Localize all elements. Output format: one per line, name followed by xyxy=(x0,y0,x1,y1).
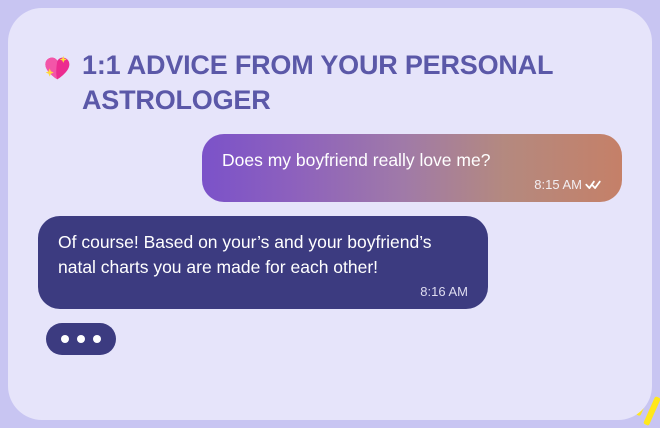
sparkling-heart-icon xyxy=(42,52,72,82)
typing-dot xyxy=(61,335,69,343)
typing-dot xyxy=(93,335,101,343)
message-bubble-outgoing[interactable]: Does my boyfriend really love me? 8:15 A… xyxy=(202,134,622,202)
message-timestamp: 8:15 AM xyxy=(534,177,582,192)
typing-dot xyxy=(77,335,85,343)
message-meta: 8:16 AM xyxy=(58,284,468,299)
message-timestamp: 8:16 AM xyxy=(420,284,468,299)
message-list: Does my boyfriend really love me? 8:15 A… xyxy=(8,134,652,355)
message-row-incoming: Of course! Based on your’s and your boyf… xyxy=(38,216,622,309)
message-meta: 8:15 AM xyxy=(222,177,602,192)
message-bubble-incoming[interactable]: Of course! Based on your’s and your boyf… xyxy=(38,216,488,309)
page-title-text: 1:1 ADVICE FROM YOUR PERSONAL ASTROLOGER xyxy=(82,48,604,117)
typing-indicator-row xyxy=(38,323,622,355)
message-text: Does my boyfriend really love me? xyxy=(222,148,602,174)
double-check-icon xyxy=(585,178,602,191)
astrologer-chat-card: 1:1 ADVICE FROM YOUR PERSONAL ASTROLOGER… xyxy=(8,8,652,420)
message-text: Of course! Based on your’s and your boyf… xyxy=(58,230,468,281)
typing-indicator xyxy=(46,323,116,355)
page-title: 1:1 ADVICE FROM YOUR PERSONAL ASTROLOGER xyxy=(42,48,604,117)
message-row-outgoing: Does my boyfriend really love me? 8:15 A… xyxy=(38,134,622,202)
